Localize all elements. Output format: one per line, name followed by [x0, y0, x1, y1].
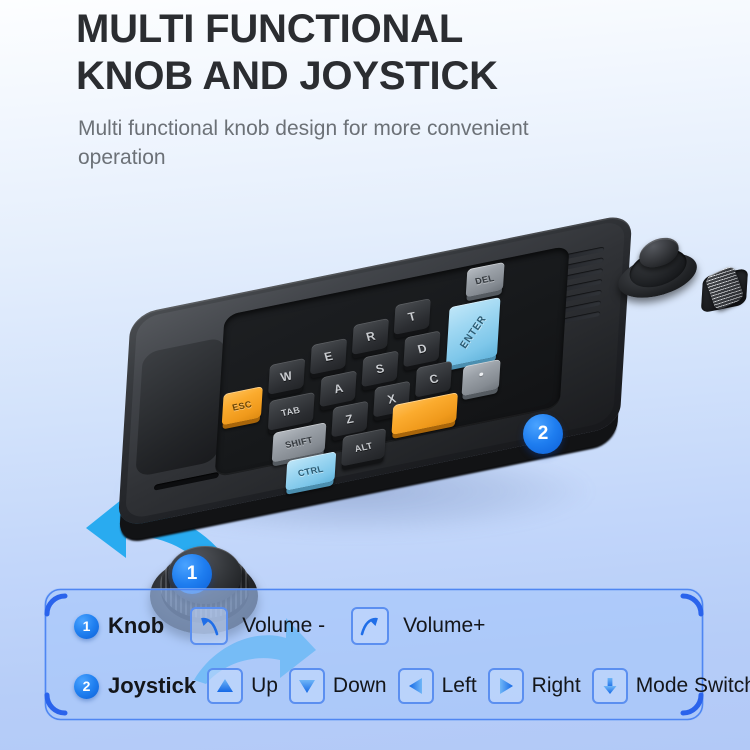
key-d[interactable]: D: [403, 330, 440, 367]
key-del[interactable]: DEL: [466, 262, 505, 298]
legend-item-mode-switch[interactable]: Mode Switch: [592, 668, 750, 704]
header: MULTI FUNCTIONAL KNOB AND JOYSTICK Multi…: [0, 0, 750, 173]
legend-item-up[interactable]: Up: [207, 668, 278, 704]
legend-text-volume-down: Volume -: [242, 614, 325, 638]
page-title: MULTI FUNCTIONAL KNOB AND JOYSTICK: [0, 0, 750, 100]
legend-text-mode-switch: Mode Switch: [636, 674, 750, 698]
knob-mount-plate: [135, 337, 225, 478]
legend-text-volume-up: Volume+: [403, 614, 485, 638]
legend-badge-1: 1: [74, 614, 99, 639]
legend-text-left: Left: [442, 674, 477, 698]
page-title-line-2: KNOB AND JOYSTICK: [76, 53, 750, 100]
page-title-line-1: MULTI FUNCTIONAL: [76, 0, 750, 53]
key-function-dot[interactable]: [462, 359, 501, 396]
rotate-clockwise-icon: [351, 607, 389, 645]
key-r[interactable]: R: [352, 318, 389, 355]
callout-badge-1-number: 1: [187, 563, 198, 585]
legend-row-joystick: 2 Joystick Up: [74, 662, 750, 710]
product-illustration: ESC W E R T DEL TAB A S: [0, 196, 750, 576]
key-w[interactable]: W: [268, 358, 305, 395]
triangle-down-icon: [289, 668, 325, 704]
scroll-wheel-control[interactable]: [701, 264, 749, 318]
legend-item-down[interactable]: Down: [289, 668, 387, 704]
key-s[interactable]: S: [361, 350, 398, 387]
legend-label-joystick: Joystick: [108, 673, 196, 699]
legend-item-right[interactable]: Right: [488, 668, 581, 704]
keyboard-vent-slot: [154, 472, 219, 491]
controls-legend-panel: 1 Knob Volume - Volume+ 2: [44, 588, 704, 721]
legend-row-knob: 1 Knob Volume - Volume+: [74, 602, 485, 650]
callout-badge-2-number: 2: [538, 423, 549, 445]
triangle-left-icon: [398, 668, 434, 704]
legend-badge-1-number: 1: [83, 618, 91, 634]
key-enter[interactable]: ENTER: [446, 297, 501, 367]
key-e[interactable]: E: [310, 338, 347, 375]
key-a[interactable]: A: [320, 370, 357, 407]
legend-label-knob: Knob: [108, 613, 164, 639]
key-c[interactable]: C: [415, 361, 452, 398]
legend-text-down: Down: [333, 674, 387, 698]
legend-item-volume-up[interactable]: Volume+: [351, 607, 485, 645]
rotate-counter-clockwise-icon: [190, 607, 228, 645]
page-subtitle: Multi functional knob design for more co…: [0, 100, 598, 174]
triangle-right-icon: [488, 668, 524, 704]
key-t[interactable]: T: [394, 298, 431, 335]
arrow-down-icon: [592, 668, 628, 704]
legend-item-left[interactable]: Left: [398, 668, 477, 704]
key-esc[interactable]: ESC: [222, 386, 263, 425]
callout-badge-2: 2: [523, 414, 563, 454]
legend-badge-2-number: 2: [83, 678, 91, 694]
legend-text-up: Up: [251, 674, 278, 698]
triangle-up-icon: [207, 668, 243, 704]
key-indicator-dot: [479, 372, 483, 376]
legend-text-right: Right: [532, 674, 581, 698]
legend-badge-2: 2: [74, 674, 99, 699]
legend-item-volume-down[interactable]: Volume -: [190, 607, 325, 645]
